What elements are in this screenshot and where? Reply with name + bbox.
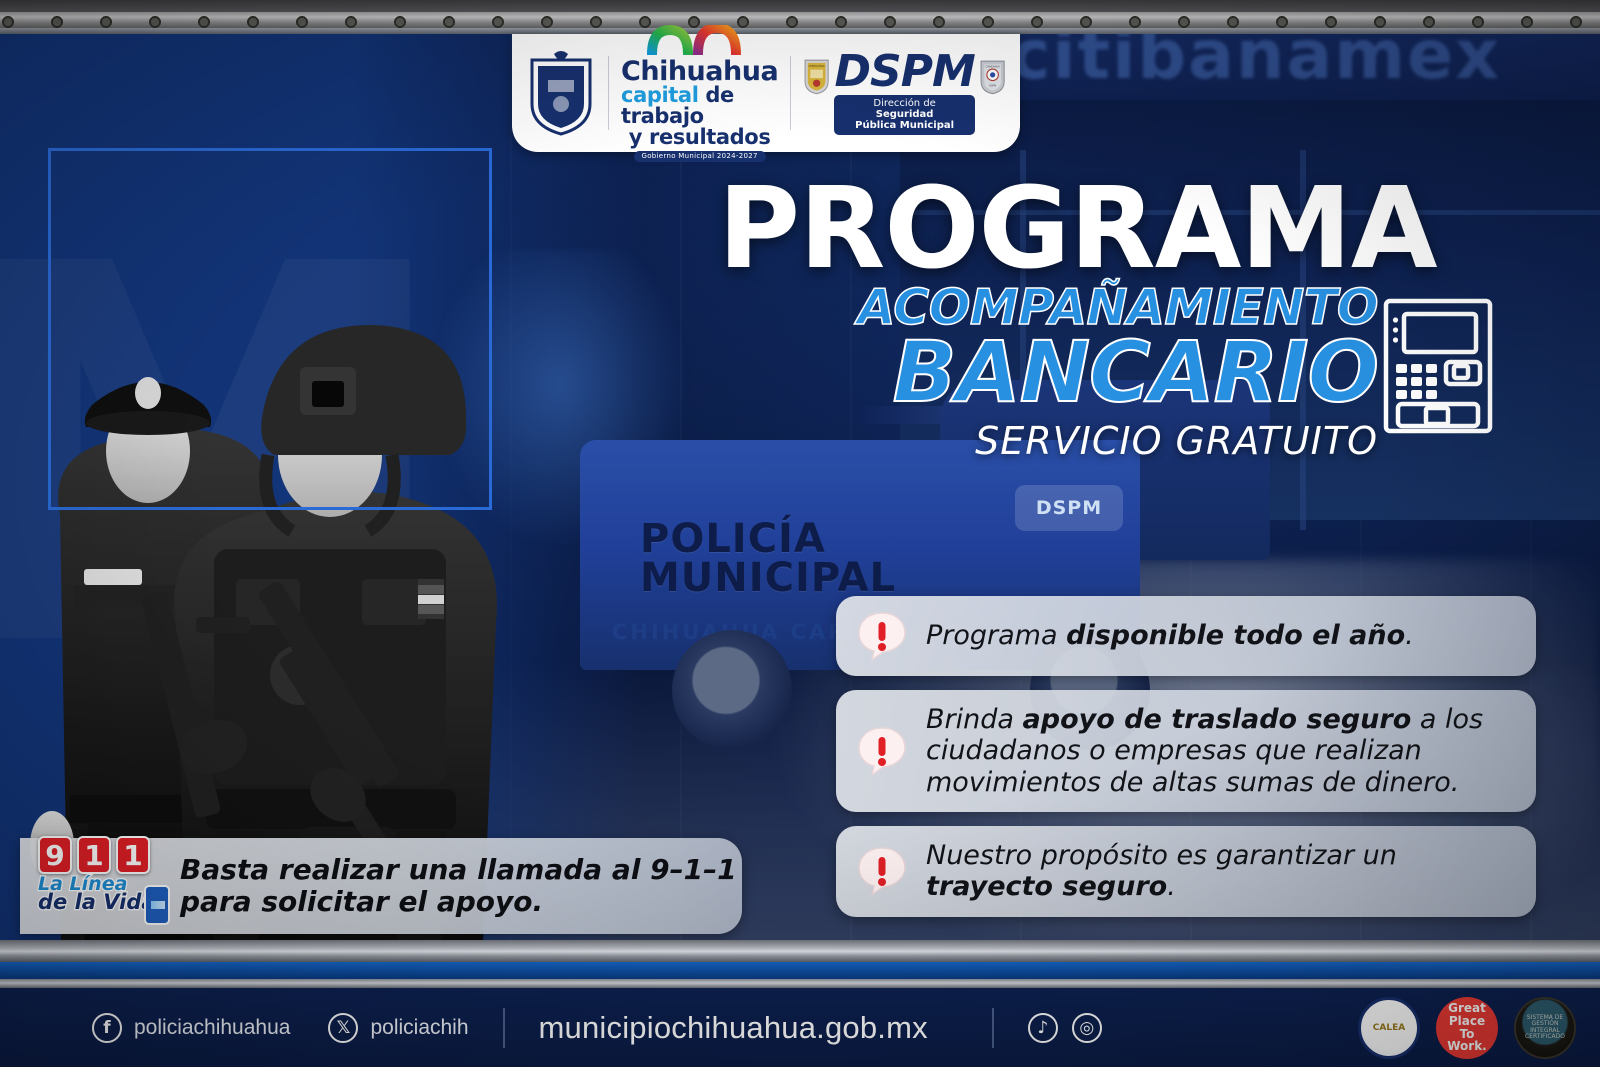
decorative-frame xyxy=(48,148,492,510)
top-metal-strip xyxy=(0,0,1600,34)
metal-strip-top-edge xyxy=(0,0,1600,12)
chihuahua-line1: Chihuahua xyxy=(621,58,778,85)
silver-badge-svg: CHIHUAHUA DSPM xyxy=(979,57,1006,95)
logo-divider xyxy=(608,56,609,130)
911-logo: 9 1 1 La Línea de la Vida xyxy=(38,836,166,940)
card-text-plain2: . xyxy=(1167,871,1176,902)
info-card-text: Programa disponible todo el año. xyxy=(926,620,1414,651)
footer-seals: CALEA Great Place To Work. SISTEMA DE GE… xyxy=(1358,997,1600,1059)
headline-servicio-gratuito: SERVICIO GRATUITO xyxy=(718,419,1378,463)
headline-block: PROGRAMA ACOMPAÑAMIENTO BANCARIO SERVICI… xyxy=(718,178,1378,463)
call-911-line2: para solicitar el apoyo. xyxy=(180,886,737,918)
truck-text-line1: POLICÍA xyxy=(640,520,896,559)
chihuahua-city-crest-icon xyxy=(526,50,596,136)
card-text-plain1: Programa xyxy=(926,620,1066,651)
info-card-text: Brinda apoyo de traslado seguro a los ci… xyxy=(926,704,1514,798)
call-911-line1: Basta realizar una llamada al 9–1–1 xyxy=(180,854,737,886)
911-digits: 9 1 1 xyxy=(38,836,166,874)
poster-canvas: citibanamex M POLICÍA MUNICIPAL CHIHUAHU… xyxy=(0,0,1600,1067)
facebook-icon[interactable]: f xyxy=(92,1013,122,1043)
card-text-bold: disponible todo el año xyxy=(1066,620,1405,651)
x-handle[interactable]: policiachih xyxy=(370,1016,468,1040)
card-text-bold: trayecto seguro xyxy=(926,871,1167,902)
headline-programa: PROGRAMA xyxy=(718,178,1378,281)
911-tagline: La Línea de la Vida xyxy=(38,875,166,913)
phone-icon xyxy=(144,885,170,925)
footer-right-social: ♪ ◎ xyxy=(1028,1013,1102,1043)
social-link-x[interactable]: 𝕏 policiachih xyxy=(328,1013,468,1043)
atm-svg xyxy=(1382,298,1494,434)
call-911-text: Basta realizar una llamada al 9–1–1 para… xyxy=(180,854,737,919)
dspm-silver-badge-icon: CHIHUAHUA DSPM xyxy=(979,57,1006,129)
truck-dspm-decal: DSPM xyxy=(1015,485,1123,531)
info-card: Nuestro propósito es garantizar un traye… xyxy=(836,826,1536,917)
card-text-plain2: . xyxy=(1405,620,1414,651)
alert-bubble-icon xyxy=(856,610,908,662)
tiktok-icon[interactable]: ♪ xyxy=(1028,1013,1058,1043)
great-place-to-work-seal: Great Place To Work. xyxy=(1436,997,1498,1059)
dspm-logo: DSPM Dirección de Seguridad Pública Muni… xyxy=(834,51,974,134)
dspm-ribbon-bold: Seguridad xyxy=(876,109,934,120)
chihuahua-line2: capital de trabajo xyxy=(621,85,778,127)
911-digit-2: 1 xyxy=(77,836,111,874)
institutional-logo-bar: Chihuahua capital de trabajo y resultado… xyxy=(512,34,1020,152)
dspm-ribbon: Dirección de Seguridad Pública Municipal xyxy=(834,95,974,135)
gptw-line4: Work. xyxy=(1447,1040,1487,1053)
dspm-ribbon-line1: Dirección de Seguridad xyxy=(844,98,964,120)
gold-badge-svg: CHIHUAHUA xyxy=(803,56,830,95)
truck-wheel-rear xyxy=(672,630,792,750)
dspm-ribbon-pre: Dirección de xyxy=(873,98,935,109)
gptw-line2: Place xyxy=(1449,1015,1485,1028)
svg-text:DSPM: DSPM xyxy=(989,84,996,87)
info-card: Brinda apoyo de traslado seguro a los ci… xyxy=(836,690,1536,812)
dspm-acronym: DSPM xyxy=(834,51,974,93)
alert-bubble-svg xyxy=(856,610,908,662)
svg-text:CHIHUAHUA: CHIHUAHUA xyxy=(809,64,825,68)
alert-bubble-icon xyxy=(856,725,908,777)
chihuahua-line3: y resultados xyxy=(629,127,771,148)
footer-divider xyxy=(992,1008,994,1048)
footer-divider xyxy=(503,1008,505,1048)
info-card-text: Nuestro propósito es garantizar un traye… xyxy=(926,840,1514,903)
truck-text-line2: MUNICIPAL xyxy=(640,559,896,598)
truck-agency-text: POLICÍA MUNICIPAL xyxy=(640,520,896,598)
arcs-svg xyxy=(646,25,754,55)
info-cards: Programa disponible todo el año. Brinda … xyxy=(836,596,1536,931)
chihuahua-government-period: Gobierno Municipal 2024-2027 xyxy=(634,151,766,162)
bottom-silver-band xyxy=(0,940,1600,962)
alert-bubble-svg xyxy=(856,725,908,777)
calea-seal-text: CALEA xyxy=(1373,1023,1405,1033)
bottom-silver-band-2 xyxy=(0,979,1600,988)
911-digit-1: 9 xyxy=(38,836,72,874)
info-card: Programa disponible todo el año. xyxy=(836,596,1536,676)
atm-machine-icon xyxy=(1382,298,1494,434)
card-text-bold: apoyo de traslado seguro xyxy=(1023,704,1412,735)
bottom-blue-band xyxy=(0,962,1600,979)
logo-divider xyxy=(790,56,791,130)
x-twitter-icon[interactable]: 𝕏 xyxy=(328,1013,358,1043)
social-link-facebook[interactable]: f policiachihuahua xyxy=(92,1013,290,1043)
facebook-handle[interactable]: policiachihuahua xyxy=(134,1016,290,1040)
alert-bubble-svg xyxy=(856,845,908,897)
dspm-ribbon-line2: Pública Municipal xyxy=(844,120,964,131)
chihuahua-gold-badge-icon: CHIHUAHUA xyxy=(803,56,830,130)
svg-text:CHIHUAHUA: CHIHUAHUA xyxy=(985,65,1000,68)
city-crest-slot xyxy=(526,50,596,136)
crest-svg xyxy=(526,50,596,136)
911-digit-3: 1 xyxy=(116,836,150,874)
iso-seal-text: SISTEMA DE GESTIÓN INTEGRAL CERTIFICADO xyxy=(1522,1015,1568,1040)
card-text-plain1: Nuestro propósito es garantizar un xyxy=(926,840,1397,871)
dspm-ribbon-line2-text: Pública Municipal xyxy=(855,120,954,131)
footer-website[interactable]: municipiochihuahua.gob.mx xyxy=(539,1010,928,1046)
gptw-line1: Great xyxy=(1448,1002,1486,1015)
calea-accreditation-seal: CALEA xyxy=(1358,997,1420,1059)
chihuahua-arcs-icon xyxy=(646,25,754,55)
chihuahua-wordmark: Chihuahua capital de trabajo y resultado… xyxy=(621,25,778,162)
iso-certification-seal: SISTEMA DE GESTIÓN INTEGRAL CERTIFICADO xyxy=(1514,997,1576,1059)
footer-social-links: f policiachihuahua 𝕏 policiachih xyxy=(92,1013,469,1043)
footer-bar: f policiachihuahua 𝕏 policiachih municip… xyxy=(0,988,1600,1067)
headline-bancario: BANCARIO xyxy=(718,333,1378,413)
metal-rivets xyxy=(0,14,1600,30)
alert-bubble-icon xyxy=(856,845,908,897)
card-text-plain1: Brinda xyxy=(926,704,1023,735)
instagram-icon[interactable]: ◎ xyxy=(1072,1013,1102,1043)
